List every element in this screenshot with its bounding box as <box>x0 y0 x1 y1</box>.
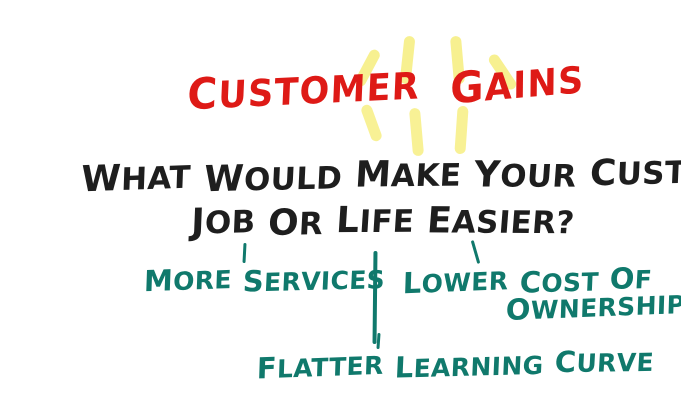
question-line-1: WHATWOULDMAKEYOURCUSTOMER'S <box>80 148 681 201</box>
page-title: CUSTOMERGAINS <box>186 59 585 118</box>
answer-flatter-learning-curve: FLATTERLEARNINGCURVE <box>256 344 654 386</box>
starburst-ray-lower-mid <box>409 108 424 157</box>
question-line-2: JOBORLIFEEASIER? <box>190 198 576 244</box>
answer-more-services: MORESERVICES <box>143 261 386 299</box>
whiteboard-canvas: CUSTOMERGAINS WHATWOULDMAKEYOURCUSTOMER'… <box>0 0 681 416</box>
title-word-gains: GAINS <box>449 55 585 115</box>
answer-lower-cost-line-2: OWNERSHIP <box>505 289 681 327</box>
tick-stroke-lower-cost-icon <box>471 240 480 264</box>
tick-stroke-more-services-icon <box>242 243 246 263</box>
title-word-customer: CUSTOMER <box>186 62 421 119</box>
